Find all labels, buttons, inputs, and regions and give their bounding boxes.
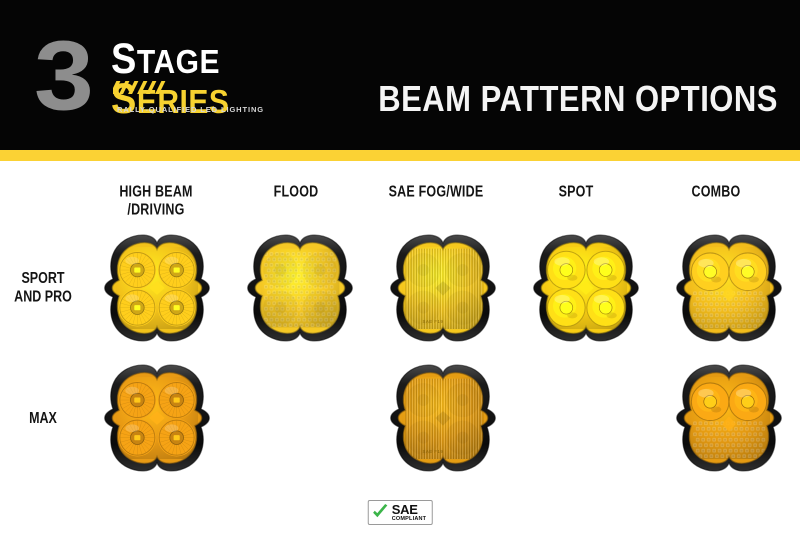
cell-max-flood [229, 353, 372, 483]
row-label-max: MAX [0, 409, 86, 427]
svg-text:SAE F19: SAE F19 [422, 319, 443, 324]
cell-sport-pro-combo [657, 223, 800, 353]
cell-max-combo [657, 353, 800, 483]
logo-numeral-3: 3 [34, 28, 89, 126]
table-row: MAX SAE F19 [0, 353, 800, 483]
led-pod-combo [675, 364, 783, 472]
cell-sport-pro-sae-fog-wide: SAE F19 [372, 223, 515, 353]
row-cells-sport-and-pro: SAE F19 [86, 223, 800, 353]
row-label-sport-and-pro: SPORT AND PRO [0, 270, 86, 307]
sae-compliant-badge: SAE COMPLIANT [368, 500, 433, 525]
cell-sport-pro-flood [229, 223, 372, 353]
header-divider-bar [0, 150, 800, 161]
led-pod-combo [675, 234, 783, 342]
cell-sport-pro-high-beam-driving [86, 223, 229, 353]
logo-tagline: RALLY-QUALIFIED LED LIGHTING [117, 105, 264, 114]
sae-badge-sub-label: COMPLIANT [392, 517, 427, 523]
logo-word-series: SERIES [111, 83, 301, 120]
beam-pattern-options-page: 3 STAGE SERIES RALLY-QUALIFIED LED LIGHT… [0, 0, 800, 533]
page-title: BEAM PATTERN OPTIONS [378, 78, 778, 120]
led-pod-high-beam-driving [103, 234, 211, 342]
beam-pattern-table: HIGH BEAM /DRIVING FLOOD SAE FOG/WIDE SP… [0, 161, 800, 533]
svg-text:SAE F19: SAE F19 [422, 449, 443, 454]
led-pod-high-beam-driving [103, 364, 211, 472]
led-pod-sae-fog-wide: SAE F19 [389, 234, 497, 342]
cell-max-high-beam-driving [86, 353, 229, 483]
cell-max-sae-fog-wide: SAE F19 [372, 353, 515, 483]
cell-max-spot [514, 353, 657, 483]
cell-sport-pro-spot [514, 223, 657, 353]
page-header: 3 STAGE SERIES RALLY-QUALIFIED LED LIGHT… [0, 0, 800, 150]
led-pod-flood [246, 234, 354, 342]
sae-badge-main-label: SAE [392, 503, 427, 516]
table-rows: SPORT AND PRO SAE F19 MAX SAE F19 [0, 223, 800, 483]
led-pod-spot [532, 234, 640, 342]
sae-badge-text: SAE COMPLIANT [392, 503, 427, 523]
stage-series-logo: 3 STAGE SERIES RALLY-QUALIFIED LED LIGHT… [34, 33, 294, 121]
green-check-icon [371, 503, 390, 522]
row-cells-max: SAE F19 [86, 353, 800, 483]
led-pod-sae-fog-wide: SAE F19 [389, 364, 497, 472]
table-column-headers: HIGH BEAM /DRIVING FLOOD SAE FOG/WIDE SP… [86, 183, 786, 227]
logo-word-stage: STAGE [111, 43, 301, 80]
table-row: SPORT AND PRO SAE F19 [0, 223, 800, 353]
